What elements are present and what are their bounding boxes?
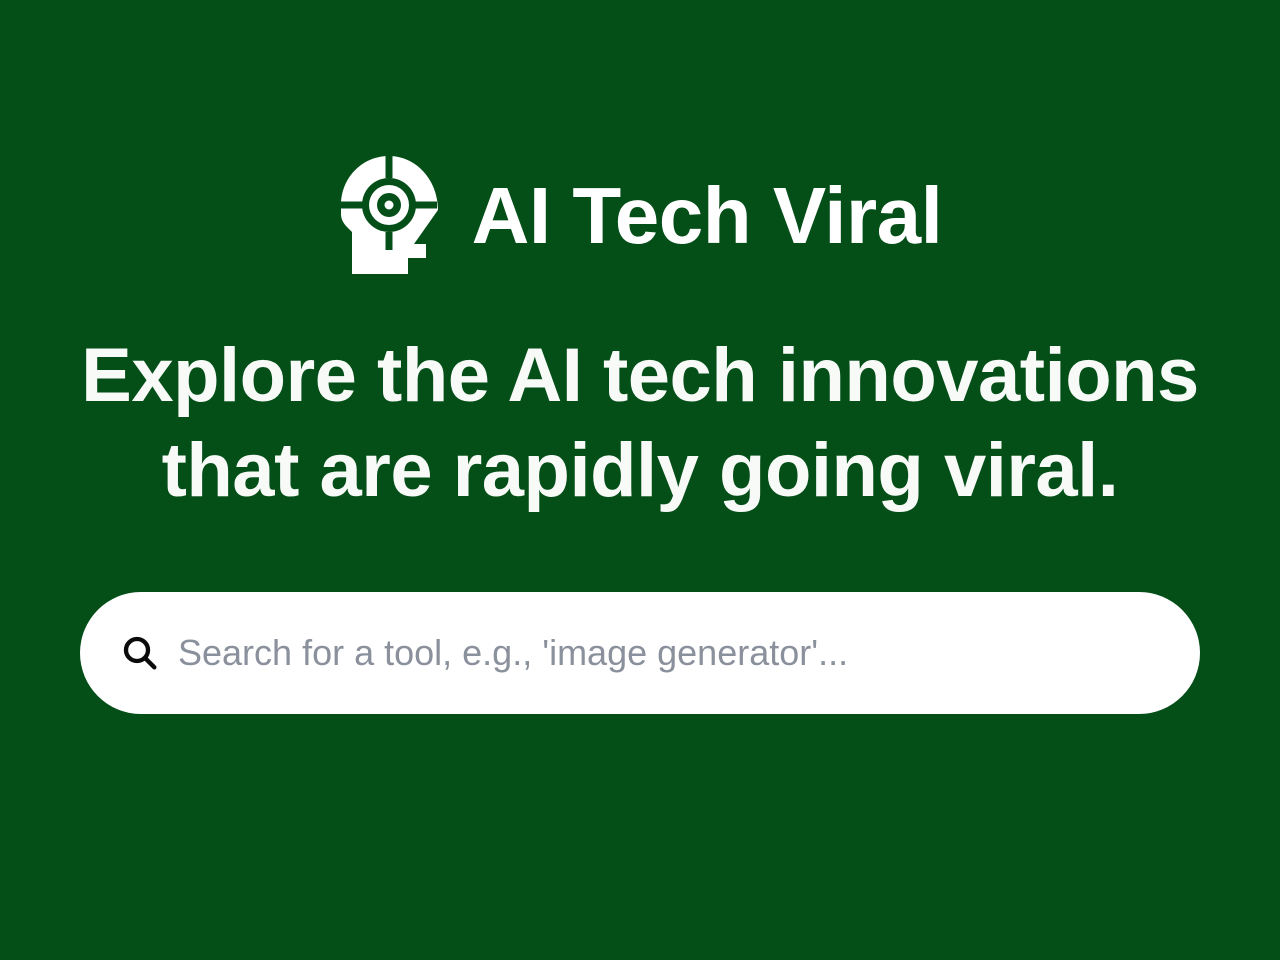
hero-section: AI Tech Viral Explore the AI tech innova… bbox=[0, 0, 1280, 960]
search-input[interactable] bbox=[178, 592, 1160, 714]
search-section bbox=[80, 592, 1200, 714]
headline-line-3: going viral. bbox=[719, 428, 1118, 513]
search-icon[interactable] bbox=[120, 633, 160, 673]
brand-name: AI Tech Viral bbox=[472, 176, 943, 256]
brand-header: AI Tech Viral bbox=[338, 146, 943, 286]
page-title: Explore the AI tech innovations that are… bbox=[80, 328, 1200, 518]
ai-robot-head-icon bbox=[338, 154, 446, 278]
headline-line-1: Explore the AI tech bbox=[81, 333, 757, 418]
search-bar[interactable] bbox=[80, 592, 1200, 714]
